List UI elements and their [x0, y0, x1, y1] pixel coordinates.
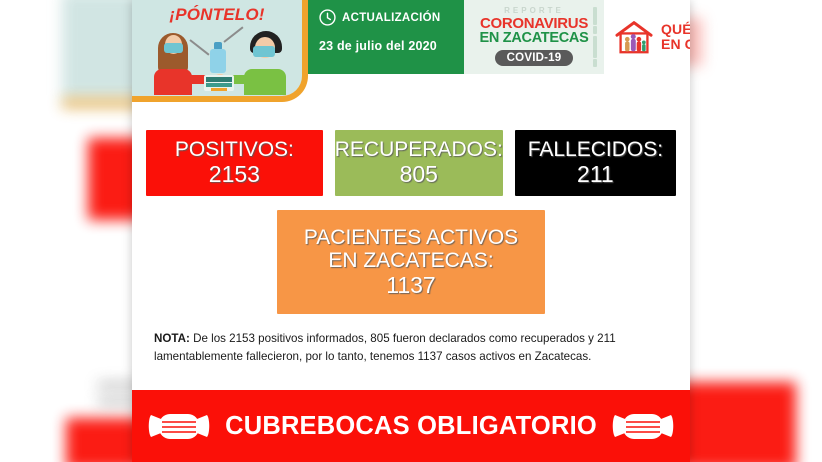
covid-pill: COVID-19 [495, 50, 574, 66]
active-patients-row: PACIENTES ACTIVOS EN ZACATECAS: 1137 [132, 196, 690, 314]
stat-value-positivos: 2153 [209, 162, 260, 188]
report-logo: REPORTE CORONAVIRUS EN ZACATECAS COVID-1… [464, 0, 604, 74]
stat-label-fallecidos: FALLECIDOS: [528, 138, 663, 162]
stat-box-positivos: POSITIVOS: 2153 [146, 130, 323, 196]
pontelo-title: ¡PÓNTELO! [132, 0, 302, 25]
two-people-sanitizer-illustration [132, 25, 302, 93]
stats-row: POSITIVOS: 2153 RECUPERADOS: 805 FALLECI… [132, 108, 690, 196]
face-mask-icon [611, 406, 675, 446]
stat-value-fallecidos: 211 [577, 162, 614, 188]
update-label: ACTUALIZACIÓN [342, 12, 440, 24]
report-logo-coronavirus: CORONAVIRUS [464, 16, 604, 31]
active-label-line2: EN ZACATECAS: [328, 249, 493, 273]
report-card: ¡PÓNTELO! ACTUALIZACIÓN [132, 0, 690, 462]
stat-box-recuperados: RECUPERADOS: 805 [335, 130, 503, 196]
stay-home-block: QUÉDATE EN CASA [604, 0, 690, 74]
clock-icon [319, 9, 336, 26]
active-value: 1137 [386, 273, 435, 299]
mask-mandatory-banner: CUBREBOCAS OBLIGATORIO [132, 390, 690, 462]
pontelo-panel: ¡PÓNTELO! [132, 0, 308, 102]
note-body: De los 2153 positivos informados, 805 fu… [154, 332, 616, 363]
active-label-line1: PACIENTES ACTIVOS [304, 226, 518, 250]
stat-value-recuperados: 805 [400, 162, 438, 188]
banner-label: CUBREBOCAS OBLIGATORIO [225, 412, 597, 441]
note-prefix: NOTA: [154, 332, 190, 345]
dash-decoration [588, 0, 602, 74]
note-text: NOTA: De los 2153 positivos informados, … [132, 314, 690, 365]
sana-distancia-tag [204, 75, 234, 91]
stat-box-fallecidos: FALLECIDOS: 211 [515, 130, 676, 196]
stat-box-pacientes-activos: PACIENTES ACTIVOS EN ZACATECAS: 1137 [277, 210, 545, 314]
stay-home-label: QUÉDATE EN CASA [661, 22, 690, 52]
report-header: ¡PÓNTELO! ACTUALIZACIÓN [132, 0, 690, 108]
report-eyebrow: REPORTE [464, 6, 604, 15]
report-logo-zacatecas: EN ZACATECAS [464, 31, 604, 46]
update-block: ACTUALIZACIÓN 23 de julio del 2020 [308, 0, 464, 74]
face-mask-icon [147, 406, 211, 446]
stat-label-recuperados: RECUPERADOS: [335, 138, 503, 162]
update-date: 23 de julio del 2020 [319, 39, 464, 53]
house-family-icon [614, 20, 654, 54]
stay-home-line1: QUÉDATE [661, 22, 690, 37]
stat-label-positivos: POSITIVOS: [175, 138, 294, 162]
stay-home-line2: EN CASA [661, 37, 690, 52]
